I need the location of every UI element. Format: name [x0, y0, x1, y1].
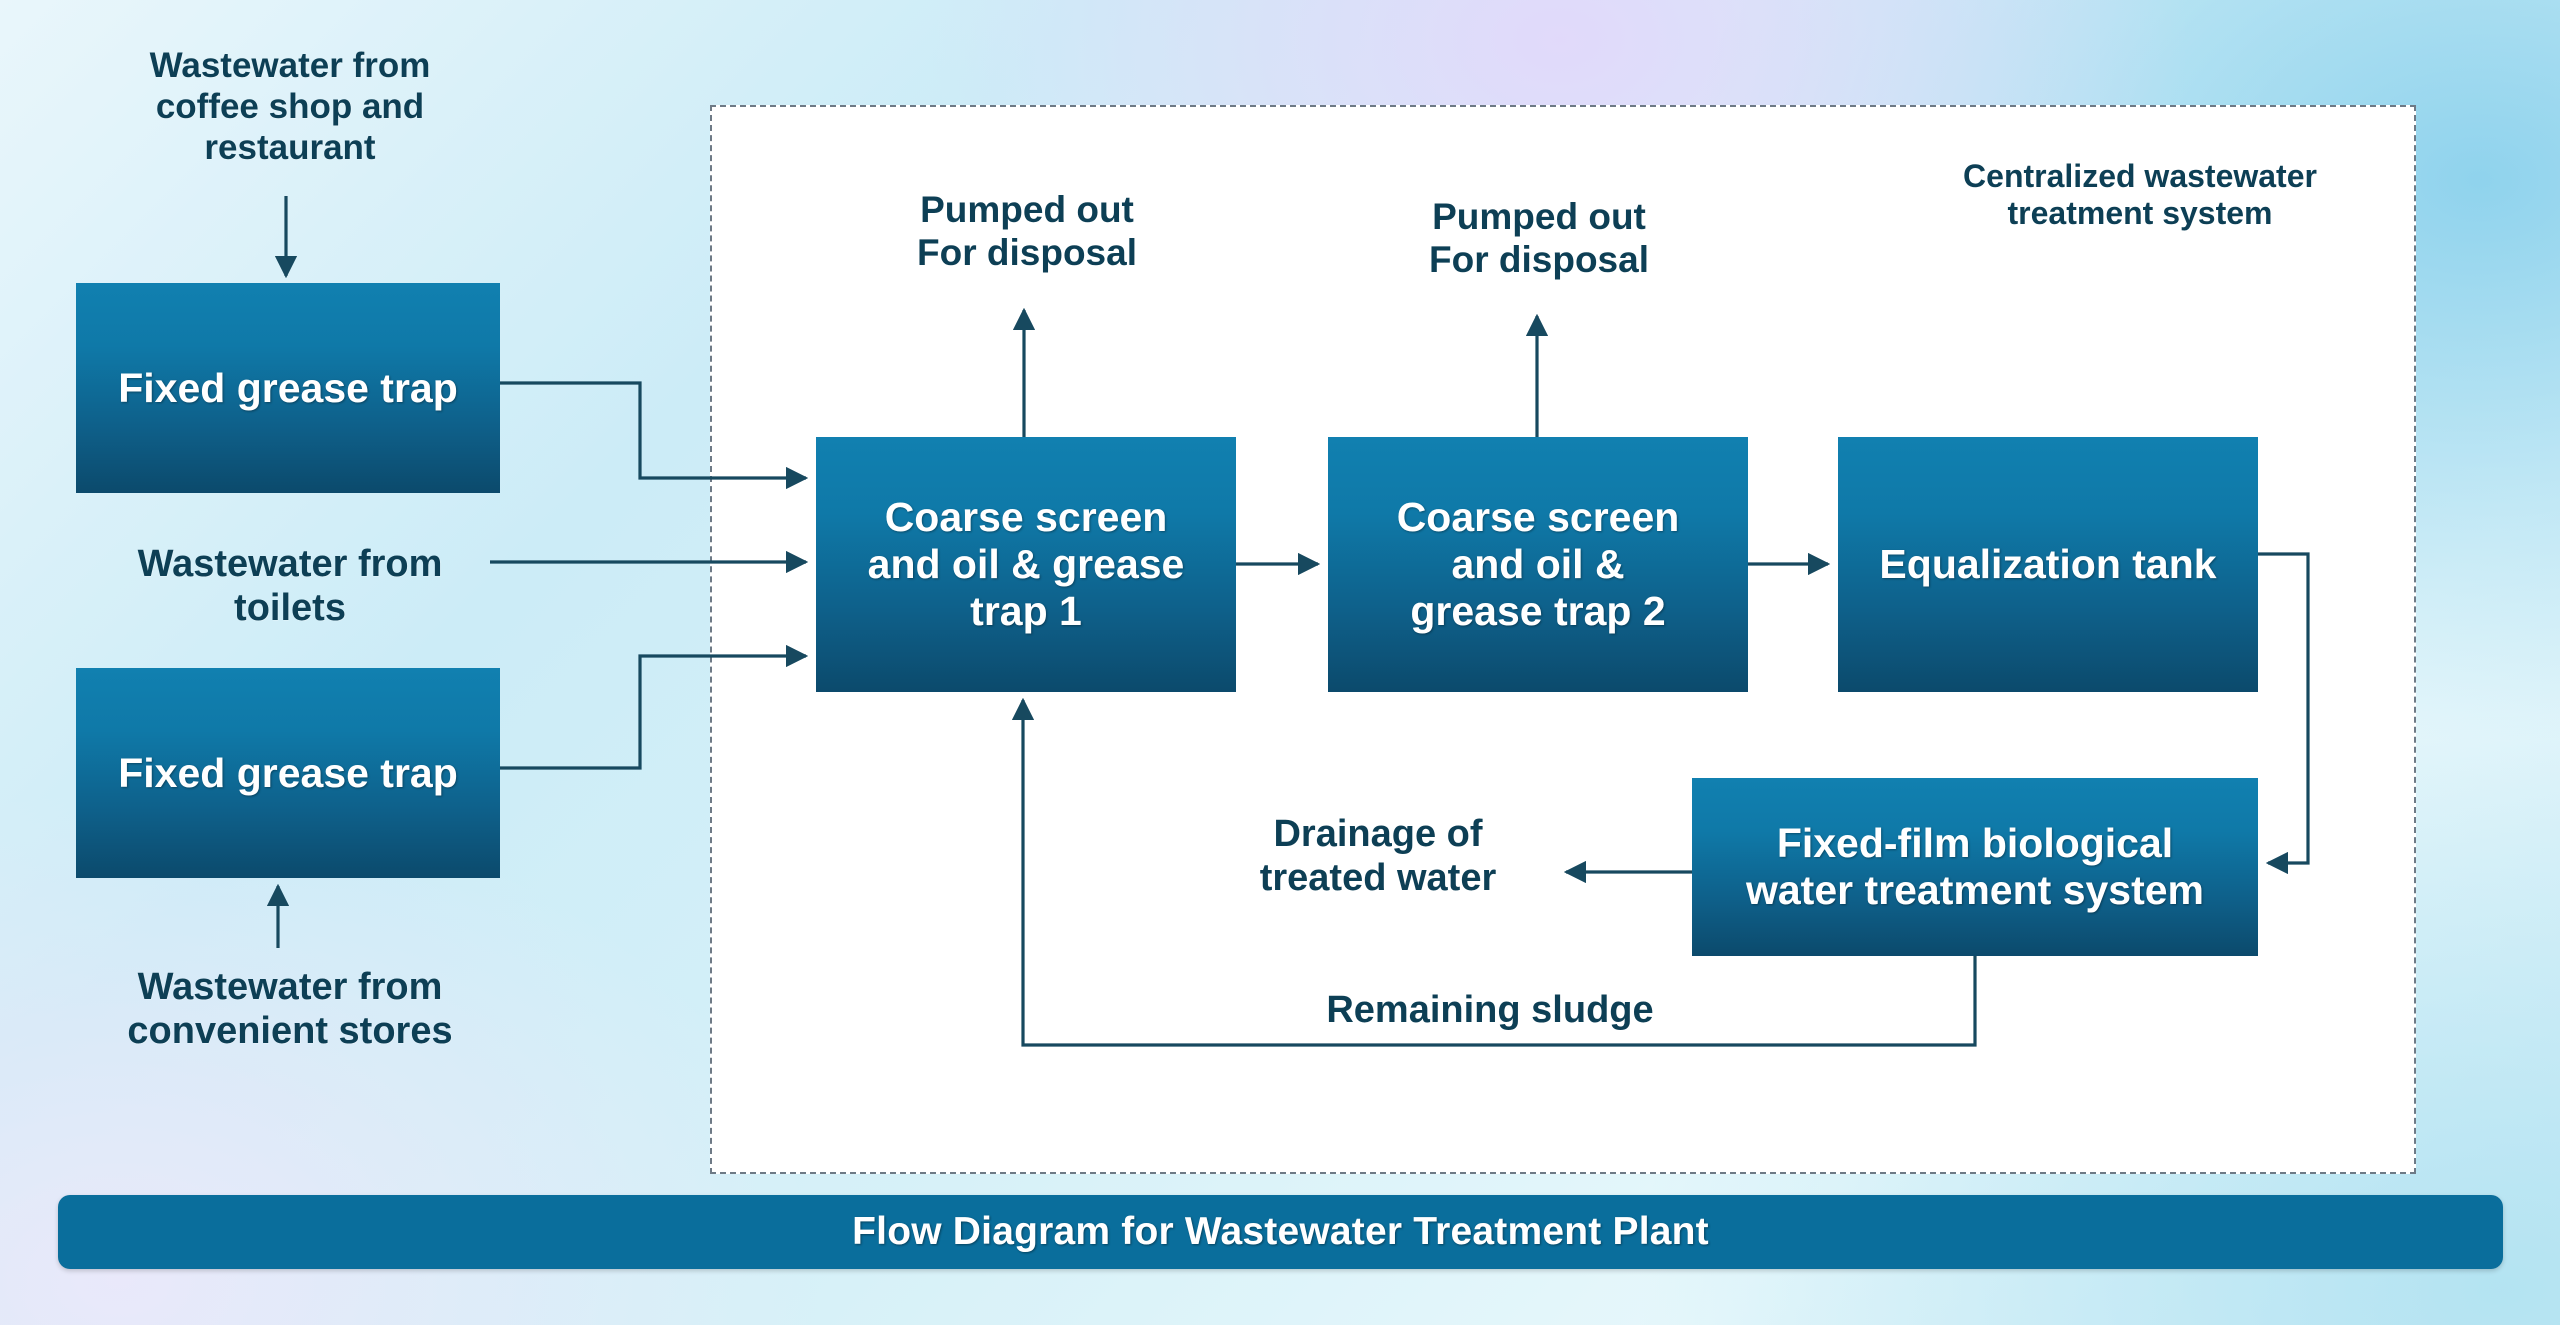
label-pumped-out-trap-2: Pumped out For disposal	[1334, 195, 1744, 282]
label-source-toilets: Wastewater from toilets	[40, 542, 540, 631]
box-label: Equalization tank	[1879, 541, 2216, 588]
box-fixed-grease-trap-top[interactable]: Fixed grease trap	[76, 283, 500, 493]
box-label: Coarse screen and oil & grease trap 2	[1397, 494, 1680, 634]
box-coarse-screen-trap-1[interactable]: Coarse screen and oil & grease trap 1	[816, 437, 1236, 692]
label-remaining-sludge: Remaining sludge	[1240, 988, 1740, 1032]
box-fixed-film-biological-system[interactable]: Fixed-film biological water treatment sy…	[1692, 778, 2258, 956]
label-source-convenient-stores: Wastewater from convenient stores	[40, 965, 540, 1054]
box-label: Fixed grease trap	[118, 750, 458, 797]
diagram-title-bar: Flow Diagram for Wastewater Treatment Pl…	[58, 1195, 2503, 1269]
label-pumped-out-trap-1: Pumped out For disposal	[822, 188, 1232, 275]
box-label: Fixed-film biological water treatment sy…	[1746, 820, 2204, 913]
box-coarse-screen-trap-2[interactable]: Coarse screen and oil & grease trap 2	[1328, 437, 1748, 692]
box-label: Coarse screen and oil & grease trap 1	[868, 494, 1185, 634]
flow-diagram-canvas: Fixed grease trap Fixed grease trap Coar…	[0, 0, 2560, 1325]
label-drainage-of-treated-water: Drainage of treated water	[1208, 812, 1548, 901]
box-equalization-tank[interactable]: Equalization tank	[1838, 437, 2258, 692]
diagram-title-text: Flow Diagram for Wastewater Treatment Pl…	[852, 1210, 1709, 1254]
label-centralized-treatment-system: Centralized wastewater treatment system	[1890, 158, 2390, 233]
box-fixed-grease-trap-bottom[interactable]: Fixed grease trap	[76, 668, 500, 878]
label-source-coffee-shop: Wastewater from coffee shop and restaura…	[80, 46, 500, 169]
box-label: Fixed grease trap	[118, 365, 458, 412]
